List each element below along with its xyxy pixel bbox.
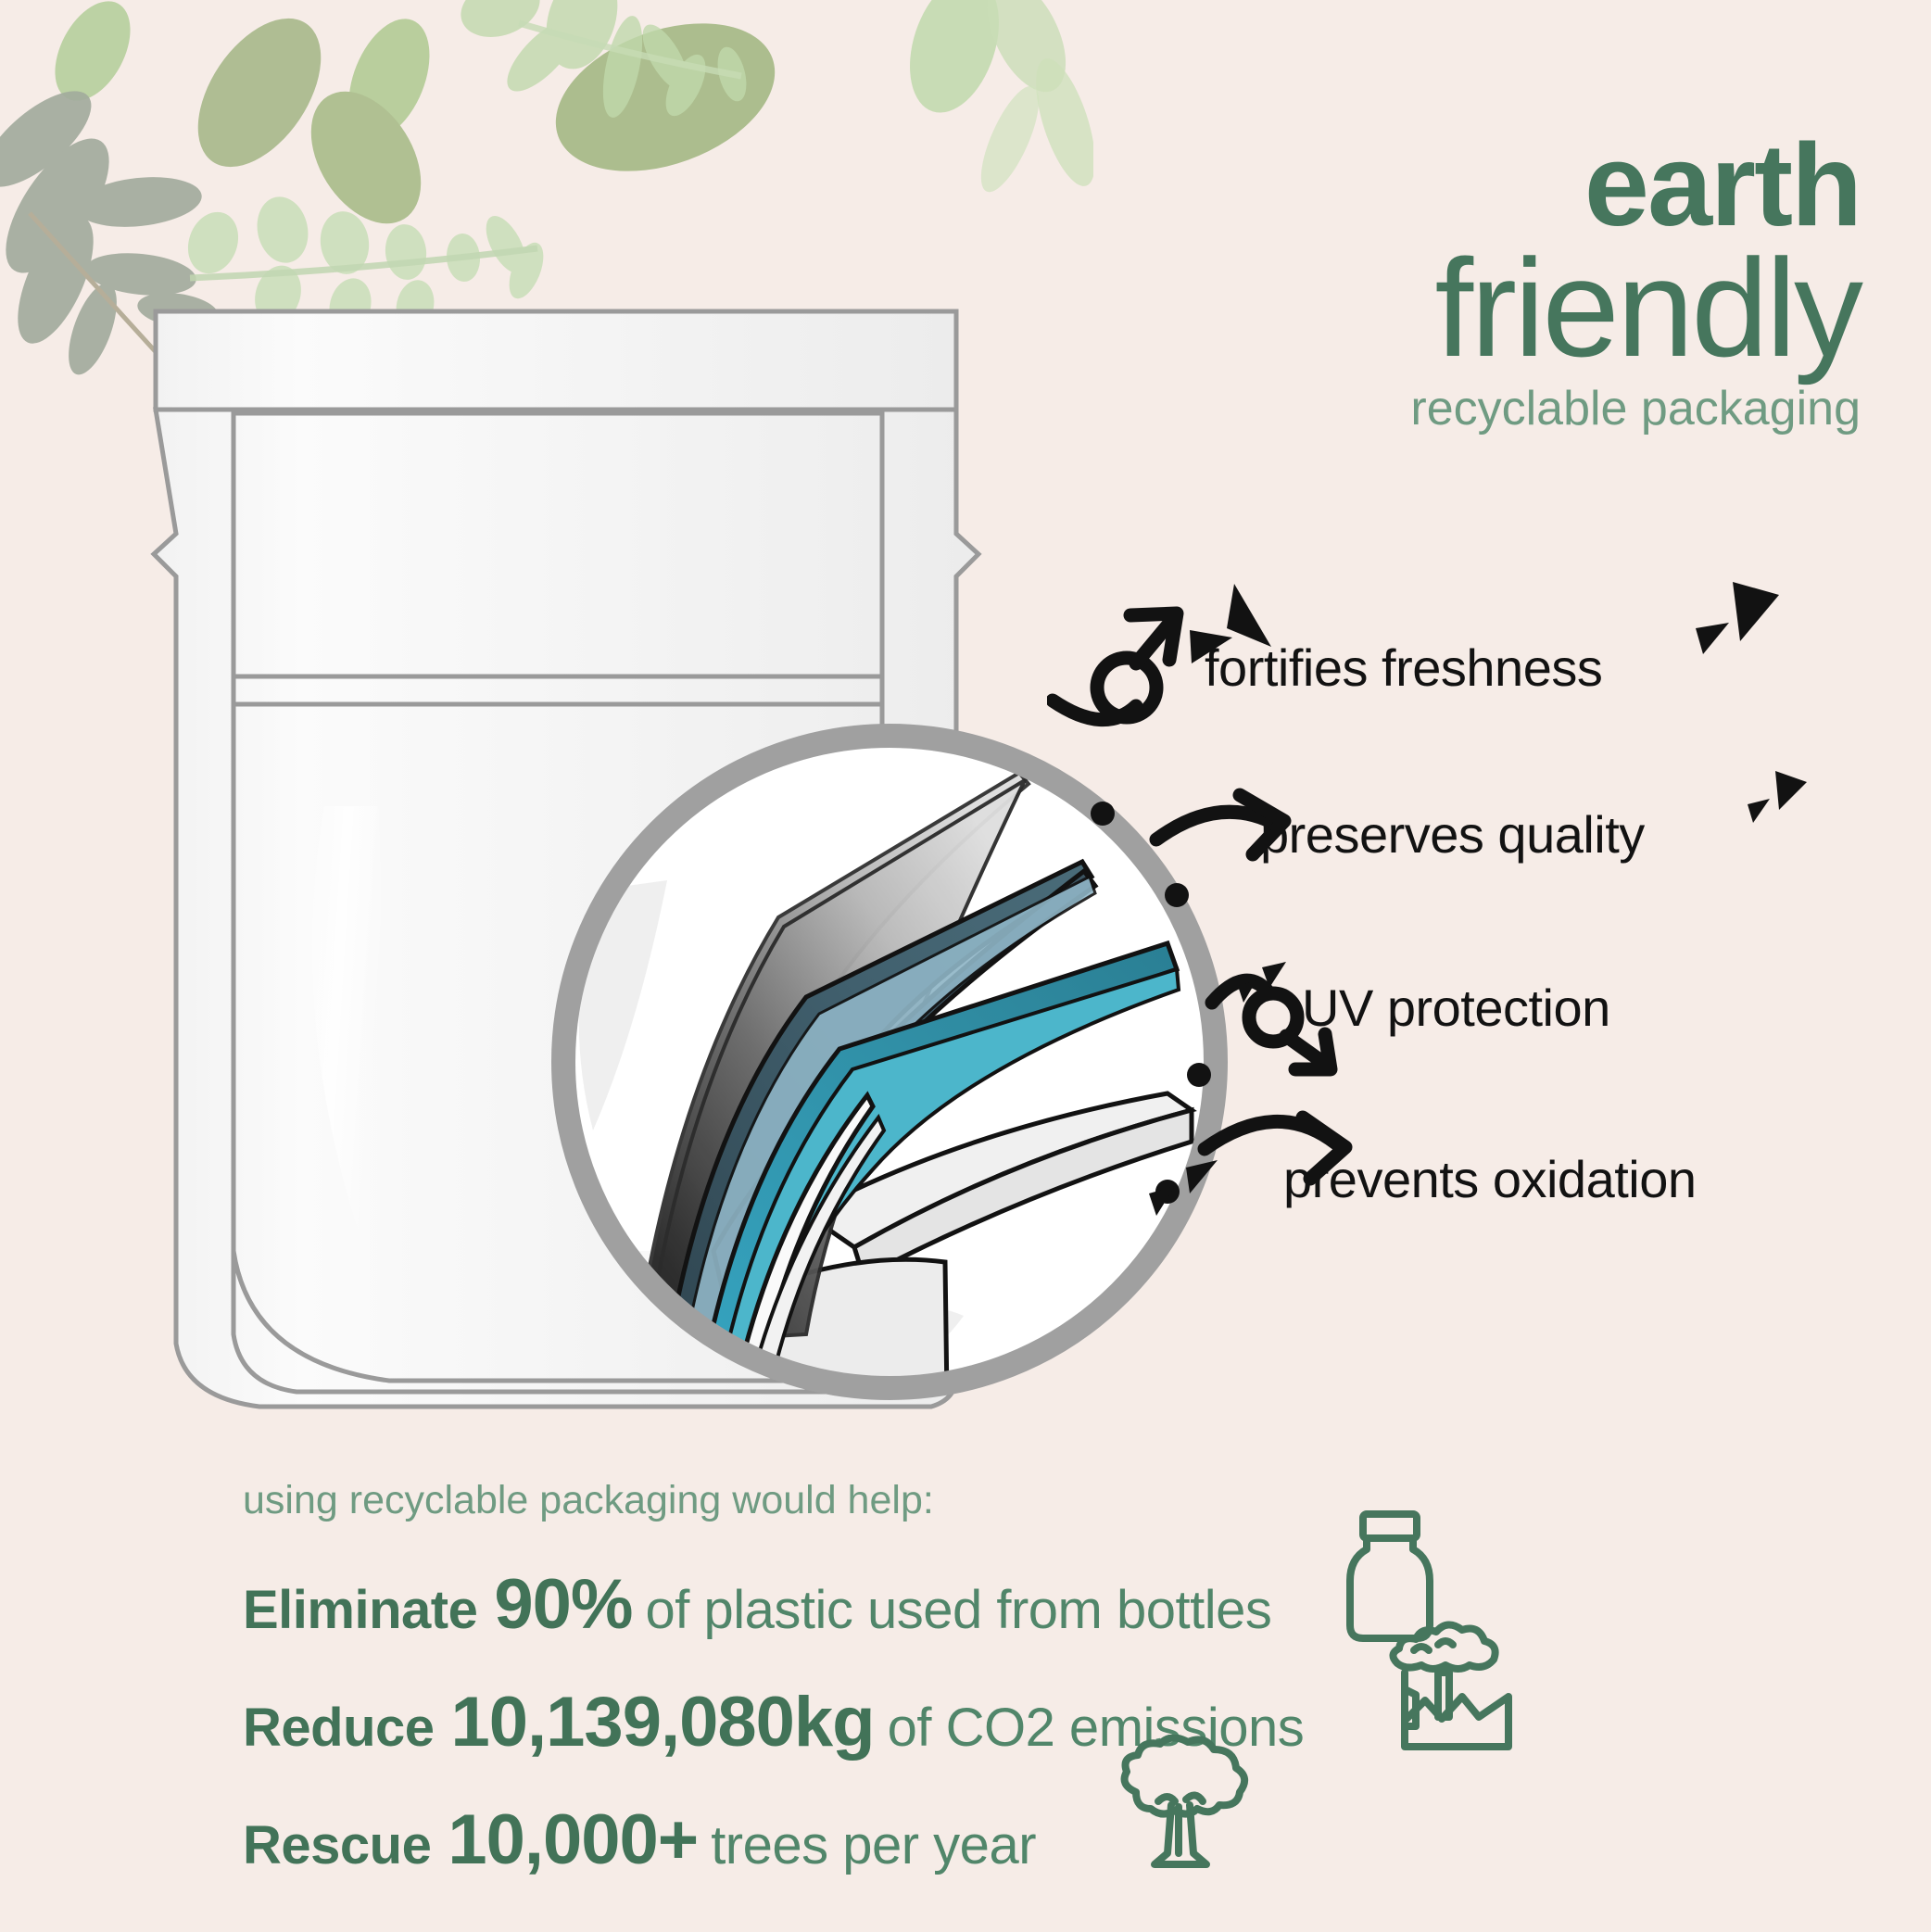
anchor-dot-1 xyxy=(1091,802,1115,826)
magnified-layer-cross-section xyxy=(528,695,1251,1427)
stat-verb: Reduce xyxy=(243,1697,435,1759)
feature-label-uv-protection: UV protection xyxy=(1302,978,1610,1038)
stat-value: 10,139,080kg xyxy=(451,1682,875,1762)
tree-icon xyxy=(1110,1735,1258,1874)
stat-row-trees: Rescue 10,000+ trees per year xyxy=(243,1799,1688,1880)
headline-subtitle: recyclable packaging xyxy=(934,381,1861,436)
feature-label-fortifies-freshness: fortifies freshness xyxy=(1205,638,1602,698)
stat-verb: Rescue xyxy=(243,1814,431,1876)
anchor-dot-4 xyxy=(1155,1180,1180,1204)
accent-tick xyxy=(1733,582,1779,641)
anchor-dot-2 xyxy=(1165,883,1189,907)
stat-tail: trees per year xyxy=(711,1814,1036,1876)
headline-line-2: friendly xyxy=(934,242,1861,374)
stat-value: 90% xyxy=(494,1564,632,1645)
anchor-dot-3 xyxy=(1187,1063,1211,1087)
stats-lead-text: using recyclable packaging would help: xyxy=(243,1478,1688,1523)
factory-icon xyxy=(1381,1617,1520,1756)
headline-block: earth friendly recyclable packaging xyxy=(934,130,1861,436)
stat-value: 10,000+ xyxy=(448,1799,698,1880)
infographic-page: earth friendly recyclable packaging fort… xyxy=(0,0,1931,1932)
stat-verb: Eliminate xyxy=(243,1579,477,1641)
feature-label-preserves-quality: preserves quality xyxy=(1260,804,1645,865)
feature-label-prevents-oxidation: prevents oxidation xyxy=(1283,1149,1697,1209)
stat-tail: of plastic used from bottles xyxy=(645,1579,1271,1641)
headline-line-1: earth xyxy=(934,130,1861,242)
